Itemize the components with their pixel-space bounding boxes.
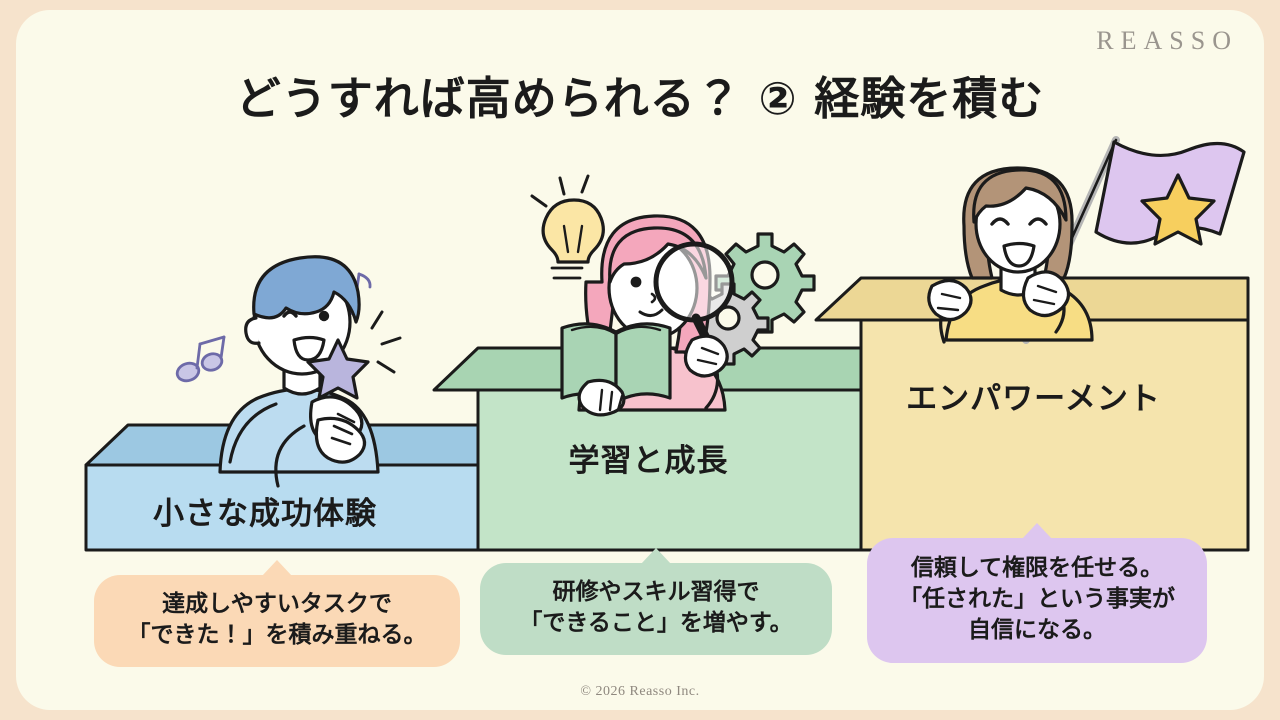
bubble-1: 達成しやすいタスクで 「できた！」を積み重ねる。 [94, 575, 460, 667]
step-1-top [86, 425, 478, 465]
copyright-footer: © 2026 Reasso Inc. [16, 684, 1264, 700]
bubble-3-tail [1022, 523, 1052, 539]
step-3-label: エンパワーメント [861, 373, 1206, 418]
step-1-label: 小さな成功体験 [90, 488, 440, 533]
person-reading-illustration [532, 176, 814, 415]
bubble-3-text: 信頼して権限を任せる。 「任された」という事実が 自信になる。 [899, 553, 1175, 646]
step-2-label: 学習と成長 [471, 435, 826, 480]
step-2-top [434, 348, 861, 390]
bubble-2-text: 研修やスキル習得で 「できること」を増やす。 [519, 577, 792, 639]
step-3-face [861, 320, 1248, 550]
bubble-1-tail [262, 560, 292, 576]
slide-root: REASSO どうすれば高められる？ ② 経験を積む [0, 0, 1280, 720]
person-clapping-illustration [175, 257, 400, 486]
bubble-2-tail [641, 548, 671, 564]
bubble-2: 研修やスキル習得で 「できること」を増やす。 [480, 563, 832, 655]
slide-card: REASSO どうすれば高められる？ ② 経験を積む [16, 10, 1264, 710]
bubble-3: 信頼して権限を任せる。 「任された」という事実が 自信になる。 [867, 538, 1207, 663]
bubble-1-text: 達成しやすいタスクで 「できた！」を積み重ねる。 [128, 589, 427, 651]
step-3-top [816, 278, 1248, 320]
person-flag-illustration [929, 140, 1244, 342]
staircase-diagram: 小さな成功体験 学習と成長 エンパワーメント 達成しやすいタスクで 「できた！」… [16, 10, 1264, 710]
